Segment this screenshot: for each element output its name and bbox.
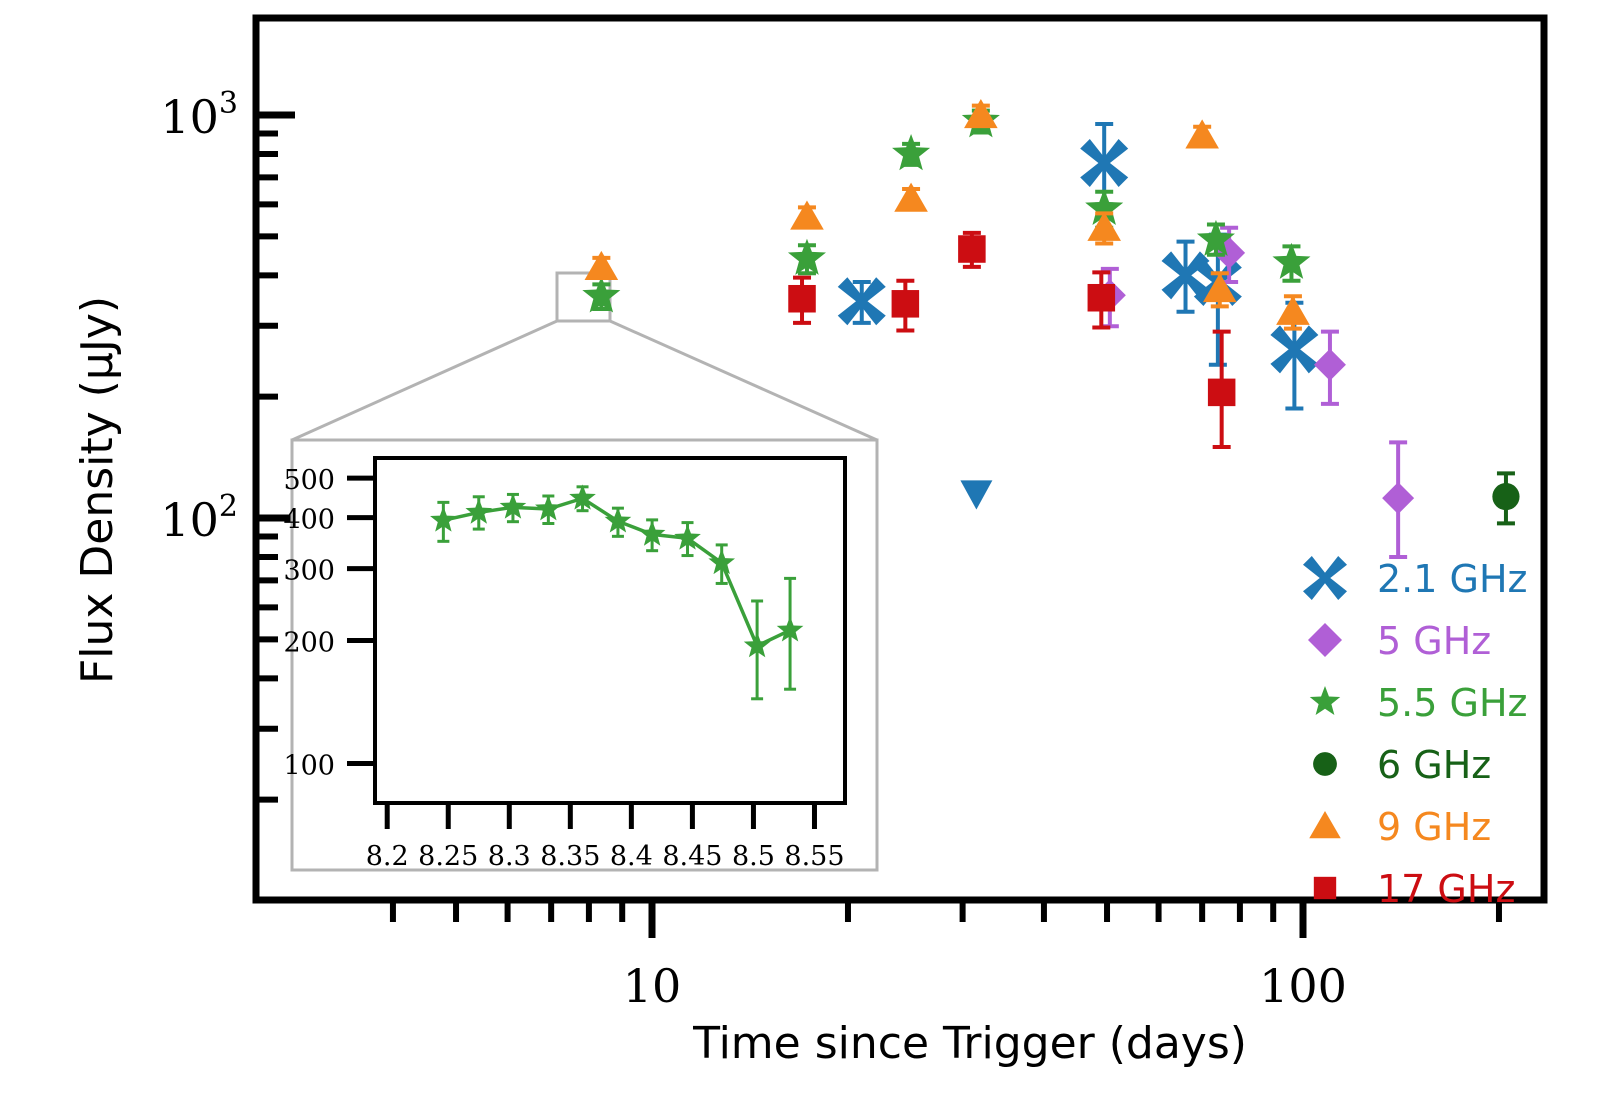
legend-label: 9 GHz bbox=[1377, 805, 1491, 849]
legend-label: 5 GHz bbox=[1377, 619, 1491, 663]
legend-label: 6 GHz bbox=[1377, 743, 1491, 787]
inset-plot-frame bbox=[375, 458, 845, 803]
inset-x-tick-label: 8.45 bbox=[662, 841, 722, 872]
inset-x-tick-label: 8.55 bbox=[784, 841, 844, 872]
inset-y-tick-label: 300 bbox=[283, 556, 335, 587]
inset-y-tick-label: 500 bbox=[283, 465, 335, 496]
data-point bbox=[958, 233, 986, 267]
y-tick-label: 103 bbox=[160, 86, 238, 144]
y-axis-title: Flux Density (µJy) bbox=[72, 296, 123, 684]
y-tick-label: 102 bbox=[160, 489, 238, 547]
legend-label: 17 GHz bbox=[1377, 867, 1515, 911]
inset-x-tick-label: 8.35 bbox=[540, 841, 600, 872]
x-tick-label: 100 bbox=[1259, 959, 1347, 1013]
x-axis-tick-labels: 10100 bbox=[623, 959, 1347, 1013]
inset-x-tick-label: 8.4 bbox=[610, 841, 653, 872]
circle-marker-icon bbox=[1313, 752, 1337, 776]
x-tick-label: 10 bbox=[623, 959, 682, 1013]
chart-canvas: 102103 10100 Time since Trigger (days) F… bbox=[0, 0, 1600, 1120]
inset-x-tick-label: 8.5 bbox=[732, 841, 775, 872]
inset-x-tick-label: 8.2 bbox=[366, 841, 409, 872]
x-axis-ticks bbox=[393, 900, 1499, 938]
inset-y-tick-label: 400 bbox=[283, 505, 335, 536]
legend-label: 5.5 GHz bbox=[1377, 681, 1527, 725]
inset-x-tick-label: 8.25 bbox=[418, 841, 478, 872]
inset-y-tick-label: 200 bbox=[283, 628, 335, 659]
square-marker-icon bbox=[1314, 877, 1336, 899]
legend-label: 2.1 GHz bbox=[1377, 557, 1527, 601]
y-axis-tick-labels: 102103 bbox=[160, 86, 238, 547]
flux-density-lightcurve-figure: 102103 10100 Time since Trigger (days) F… bbox=[0, 0, 1600, 1120]
x-axis-title: Time since Trigger (days) bbox=[692, 1018, 1247, 1069]
inset-y-tick-label: 100 bbox=[283, 750, 335, 781]
inset-x-tick-label: 8.3 bbox=[488, 841, 531, 872]
